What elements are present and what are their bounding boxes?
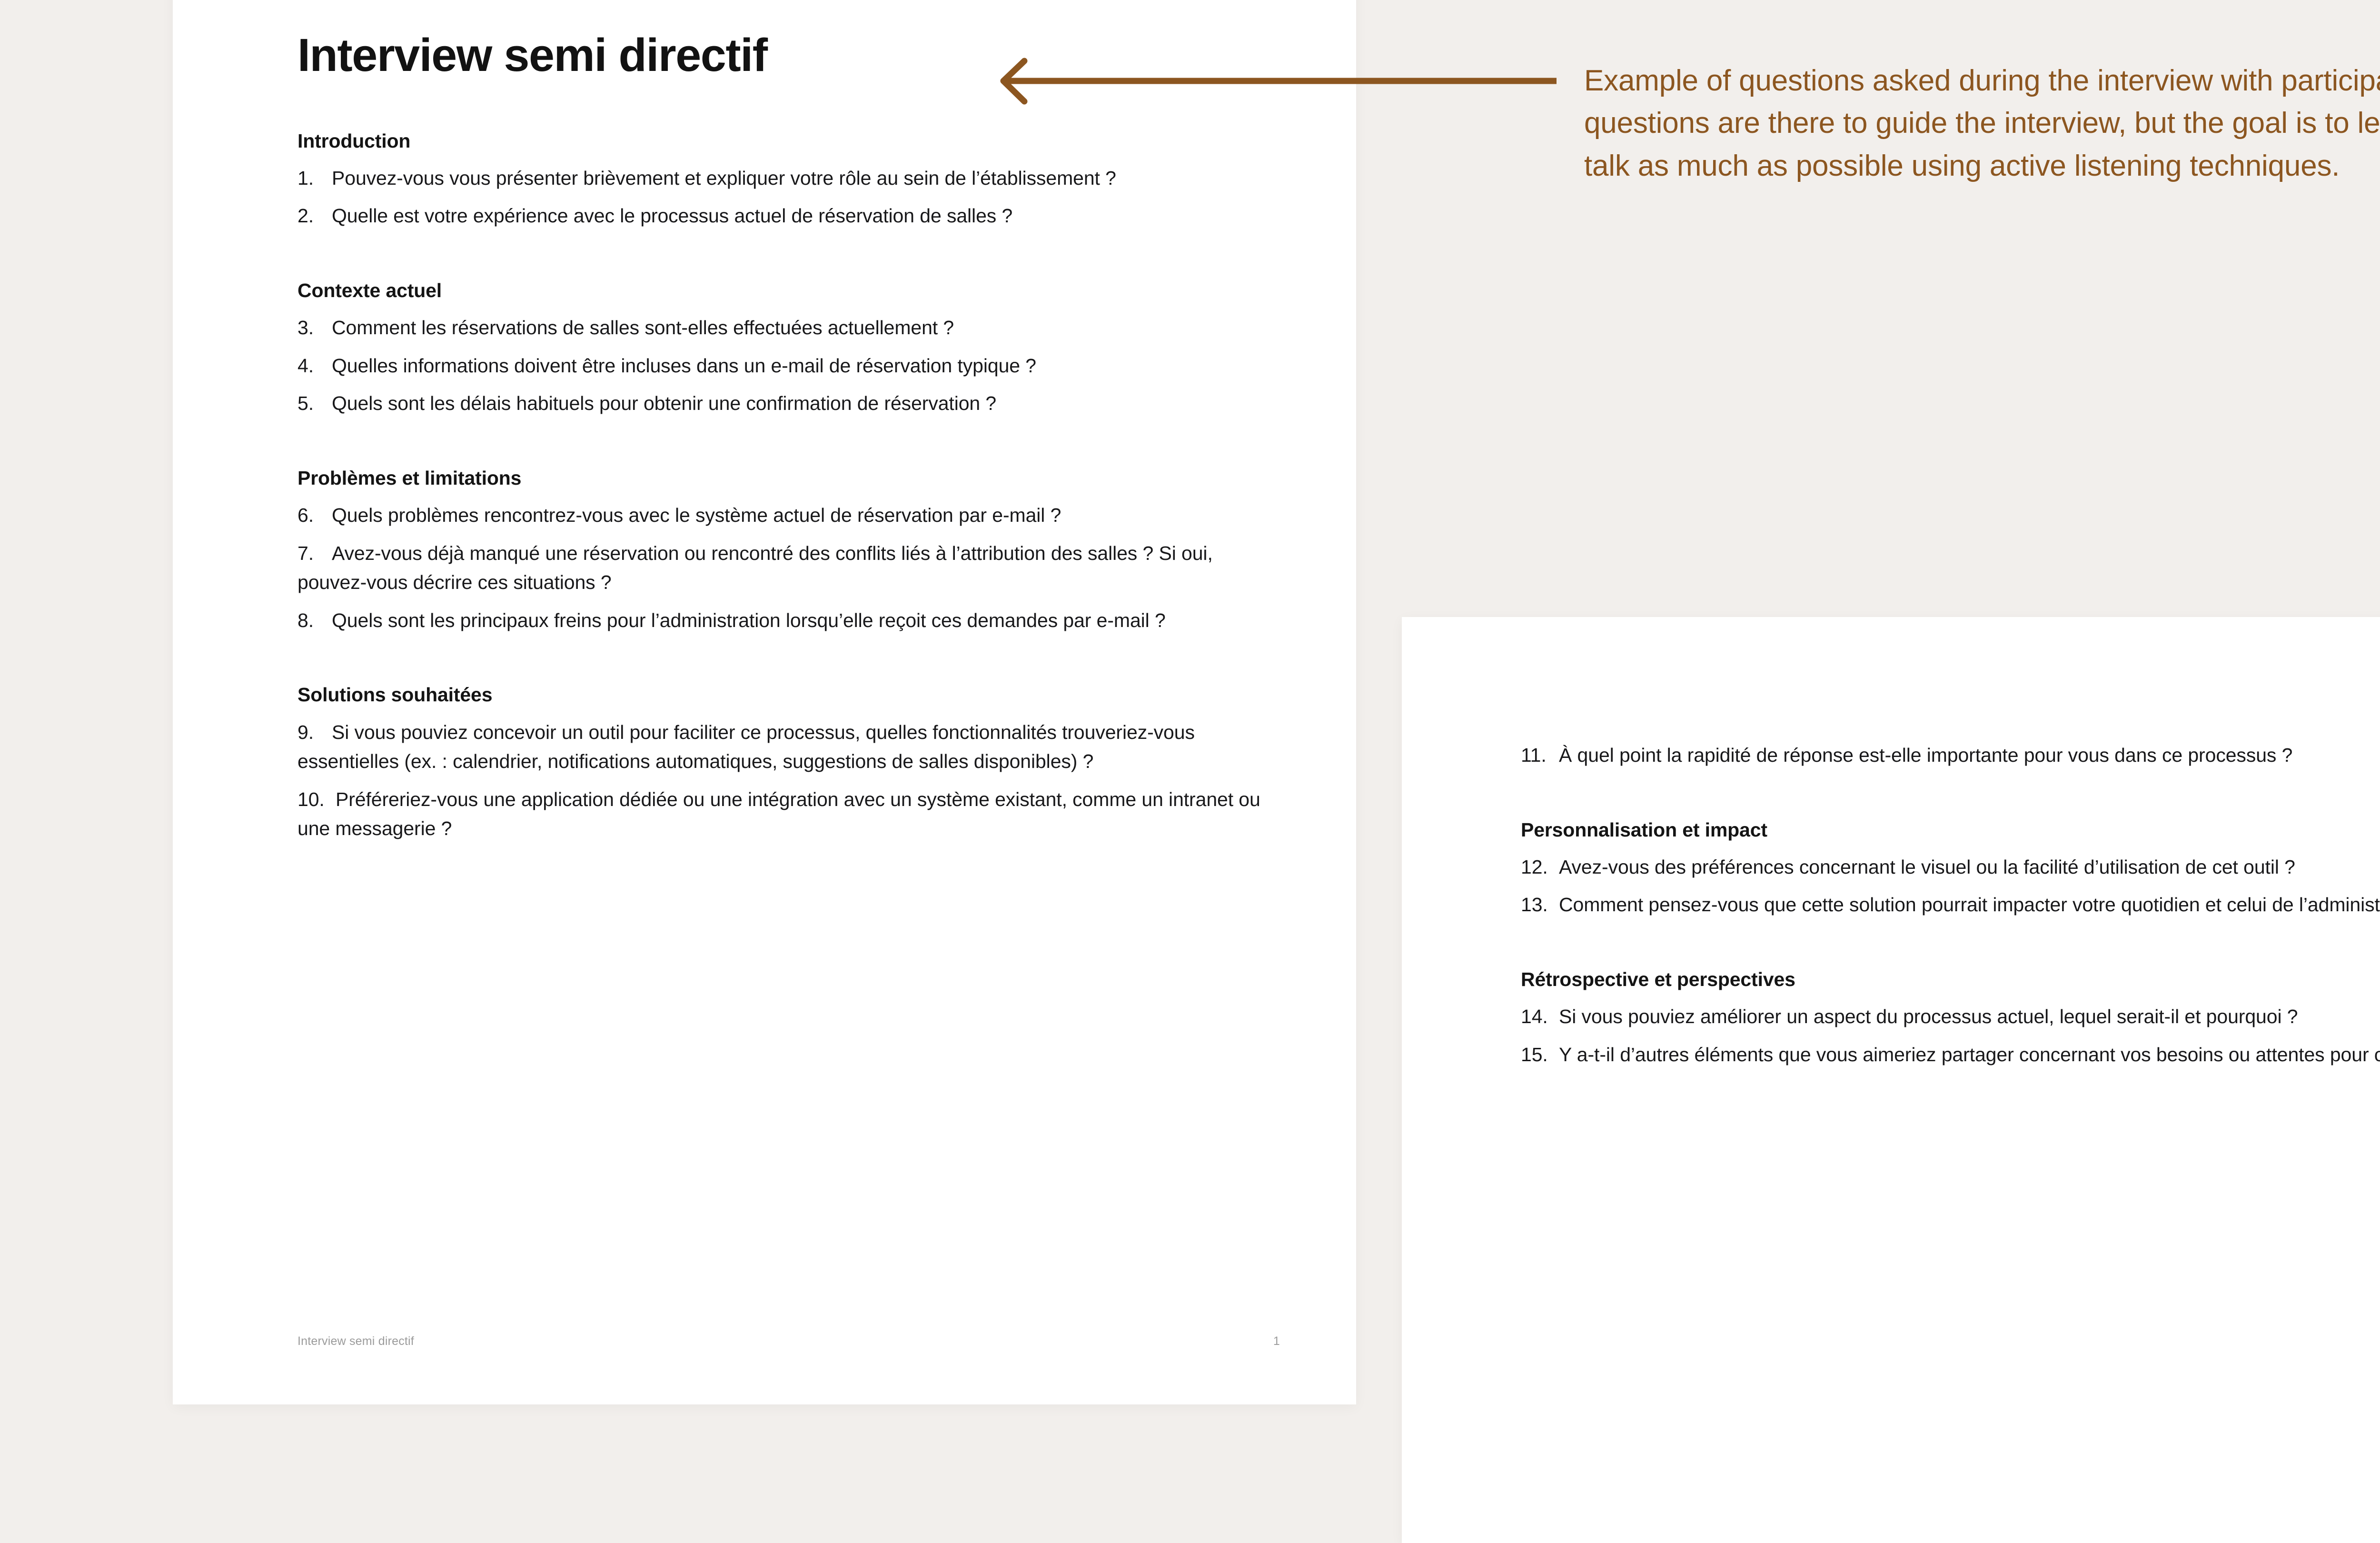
page-footer: Interview semi directif 1 [297, 1334, 1280, 1348]
question-text: Comment pensez-vous que cette solution p… [1559, 894, 2380, 916]
question-number: 13. [1521, 890, 1559, 920]
section-heading-retrospective-et-perspectives: Rétrospective et perspectives [1521, 966, 2380, 993]
page-2-content: 11.À quel point la rapidité de réponse e… [1521, 741, 2380, 1543]
question-item-2: 2.Quelle est votre expérience avec le pr… [297, 201, 1280, 231]
question-item-14: 14.Si vous pouviez améliorer un aspect d… [1521, 1002, 2380, 1032]
question-text: Si vous pouviez améliorer un aspect du p… [1559, 1005, 2298, 1027]
question-text: Avez-vous des préférences concernant le … [1559, 856, 2295, 878]
page-title: Interview semi directif [297, 1, 1280, 81]
question-item-5: 5.Quels sont les délais habituels pour o… [297, 389, 1280, 418]
question-text: Quels sont les délais habituels pour obt… [332, 392, 996, 414]
footer-page-number: 1 [1273, 1334, 1280, 1348]
question-number: 14. [1521, 1002, 1559, 1032]
question-number: 2. [297, 201, 332, 231]
question-item-10: 10.Préféreriez-vous une application dédi… [297, 785, 1280, 844]
question-item-3: 3.Comment les réservations de salles son… [297, 313, 1280, 343]
question-number: 4. [297, 351, 332, 381]
footer-document-name: Interview semi directif [297, 1334, 414, 1348]
question-number: 3. [297, 313, 332, 343]
question-number: 8. [297, 606, 332, 636]
question-number: 1. [297, 164, 332, 193]
question-text: Si vous pouviez concevoir un outil pour … [297, 721, 1195, 773]
question-item-8: 8.Quels sont les principaux freins pour … [297, 606, 1280, 636]
question-item-12: 12.Avez-vous des préférences concernant … [1521, 853, 2380, 882]
question-text: Préféreriez-vous une application dédiée … [297, 788, 1260, 840]
question-item-15: 15.Y a-t-il d’autres éléments que vous a… [1521, 1040, 2380, 1070]
question-text: À quel point la rapidité de réponse est-… [1559, 744, 2292, 766]
question-number: 6. [297, 501, 332, 530]
question-text: Comment les réservations de salles sont-… [332, 317, 954, 338]
question-text: Quels problèmes rencontrez-vous avec le … [332, 504, 1061, 526]
question-text: Y a-t-il d’autres éléments que vous aime… [1559, 1044, 2380, 1065]
page-1-content: Interview semi directif Introduction 1.P… [297, 1, 1280, 1404]
question-number: 9. [297, 718, 332, 747]
question-number: 10. [297, 785, 336, 815]
section-heading-personnalisation-et-impact: Personnalisation et impact [1521, 817, 2380, 843]
question-text: Avez-vous déjà manqué une réservation ou… [297, 542, 1213, 594]
question-text: Quelles informations doivent être inclus… [332, 355, 1036, 377]
question-item-9: 9.Si vous pouviez concevoir un outil pou… [297, 718, 1280, 776]
question-number: 7. [297, 539, 332, 568]
question-item-13: 13.Comment pensez-vous que cette solutio… [1521, 890, 2380, 920]
question-number: 15. [1521, 1040, 1559, 1070]
question-number: 11. [1521, 741, 1559, 770]
section-heading-contexte-actuel: Contexte actuel [297, 278, 1280, 304]
question-item-4: 4.Quelles informations doivent être incl… [297, 351, 1280, 381]
section-heading-solutions-souhaitees: Solutions souhaitées [297, 682, 1280, 708]
annotation-text: Example of questions asked during the in… [1584, 60, 2380, 187]
question-item-7: 7.Avez-vous déjà manqué une réservation … [297, 539, 1280, 597]
question-text: Pouvez-vous vous présenter brièvement et… [332, 167, 1116, 189]
question-text: Quelle est votre expérience avec le proc… [332, 205, 1012, 227]
question-number: 5. [297, 389, 332, 418]
question-item-11: 11.À quel point la rapidité de réponse e… [1521, 741, 2380, 770]
question-item-1: 1.Pouvez-vous vous présenter brièvement … [297, 164, 1280, 193]
question-item-6: 6.Quels problèmes rencontrez-vous avec l… [297, 501, 1280, 530]
document-page-1: Interview semi directif Introduction 1.P… [173, 0, 1356, 1404]
document-page-2: 11.À quel point la rapidité de réponse e… [1402, 617, 2380, 1543]
question-number: 12. [1521, 853, 1559, 882]
section-heading-introduction: Introduction [297, 128, 1280, 154]
question-text: Quels sont les principaux freins pour l’… [332, 609, 1166, 631]
section-heading-problemes-et-limitations: Problèmes et limitations [297, 465, 1280, 491]
